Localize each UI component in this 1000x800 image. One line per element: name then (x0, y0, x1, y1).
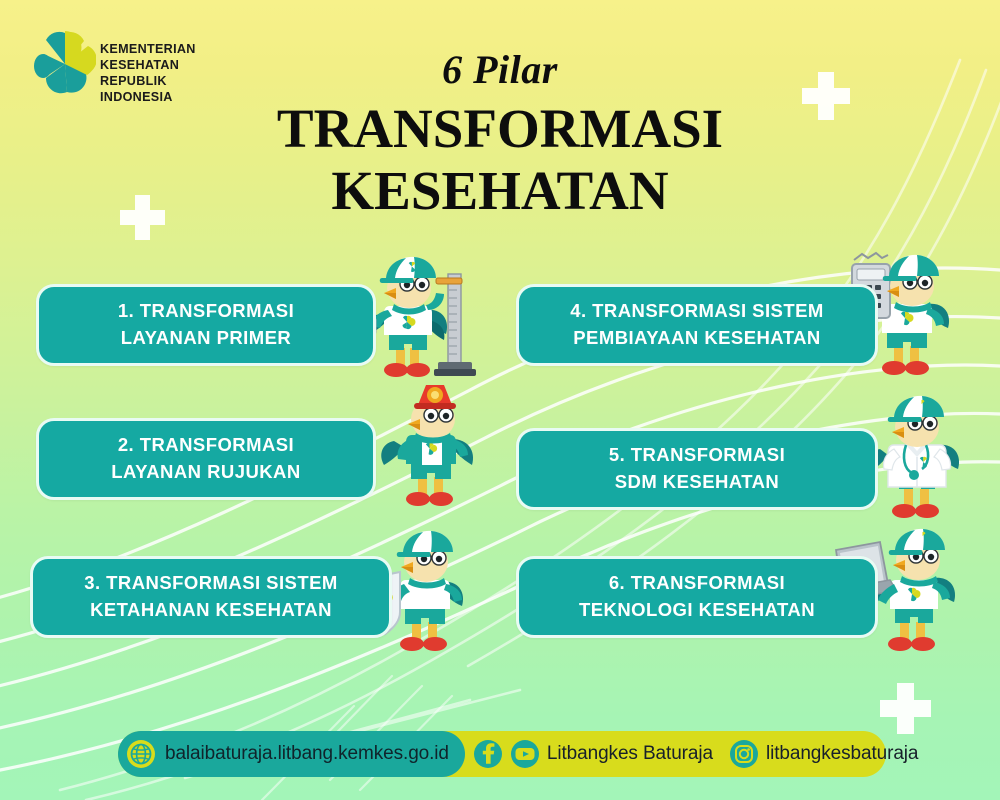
pillar-card-3[interactable]: 3. TRANSFORMASI SISTEM KETAHANAN KESEHAT… (30, 556, 392, 638)
ministry-name-text: KEMENTERIAN KESEHATAN REPUBLIK INDONESIA (100, 42, 196, 105)
pillar-card-1[interactable]: 1. TRANSFORMASI LAYANAN PRIMER (36, 284, 376, 366)
garuda-mascot-with-ambulance-siren-hat (378, 385, 498, 515)
instagram-handle: litbangkesbaturaja (766, 743, 918, 765)
social-segment[interactable]: Litbangkes Baturaja (465, 739, 713, 769)
kemenkes-flower-logo (34, 28, 96, 100)
footer-contact-bar: balaibaturaja.litbang.kemkes.go.id Litba… (118, 731, 886, 777)
title-line-1: TRANSFORMASI (277, 98, 723, 159)
poster-canvas: KEMENTERIAN KESEHATAN REPUBLIK INDONESIA… (0, 0, 1000, 800)
garuda-mascot-with-lab-coat (862, 395, 982, 525)
pillar-card-5-label: 5. TRANSFORMASI SDM KESEHATAN (609, 442, 785, 496)
title-kicker: 6 Pilar (250, 48, 750, 92)
instagram-segment[interactable]: litbangkesbaturaja (713, 739, 918, 769)
title-line-2: KESEHATAN (250, 160, 750, 222)
facebook-icon[interactable] (473, 739, 503, 769)
pillar-card-2[interactable]: 2. TRANSFORMASI LAYANAN RUJUKAN (36, 418, 376, 500)
pillar-card-4[interactable]: 4. TRANSFORMASI SISTEM PEMBIAYAAN KESEHA… (516, 284, 878, 366)
website-segment[interactable]: balaibaturaja.litbang.kemkes.go.id (118, 731, 465, 777)
pillar-card-6[interactable]: 6. TRANSFORMASI TEKNOLOGI KESEHATAN (516, 556, 878, 638)
pillar-card-6-label: 6. TRANSFORMASI TEKNOLOGI KESEHATAN (579, 570, 815, 624)
pillar-card-2-label: 2. TRANSFORMASI LAYANAN RUJUKAN (111, 432, 300, 486)
social-handle: Litbangkes Baturaja (547, 743, 713, 765)
pillar-card-3-label: 3. TRANSFORMASI SISTEM KETAHANAN KESEHAT… (84, 570, 338, 624)
title-main: TRANSFORMASI KESEHATAN (250, 98, 750, 221)
website-url: balaibaturaja.litbang.kemkes.go.id (165, 743, 449, 765)
poster-title: 6 Pilar TRANSFORMASI KESEHATAN (250, 48, 750, 221)
instagram-icon[interactable] (729, 739, 759, 769)
pillar-card-4-label: 4. TRANSFORMASI SISTEM PEMBIAYAAN KESEHA… (570, 298, 824, 352)
youtube-icon[interactable] (510, 739, 540, 769)
pillar-card-1-label: 1. TRANSFORMASI LAYANAN PRIMER (118, 298, 294, 352)
globe-icon (126, 739, 156, 769)
pillar-card-5[interactable]: 5. TRANSFORMASI SDM KESEHATAN (516, 428, 878, 510)
